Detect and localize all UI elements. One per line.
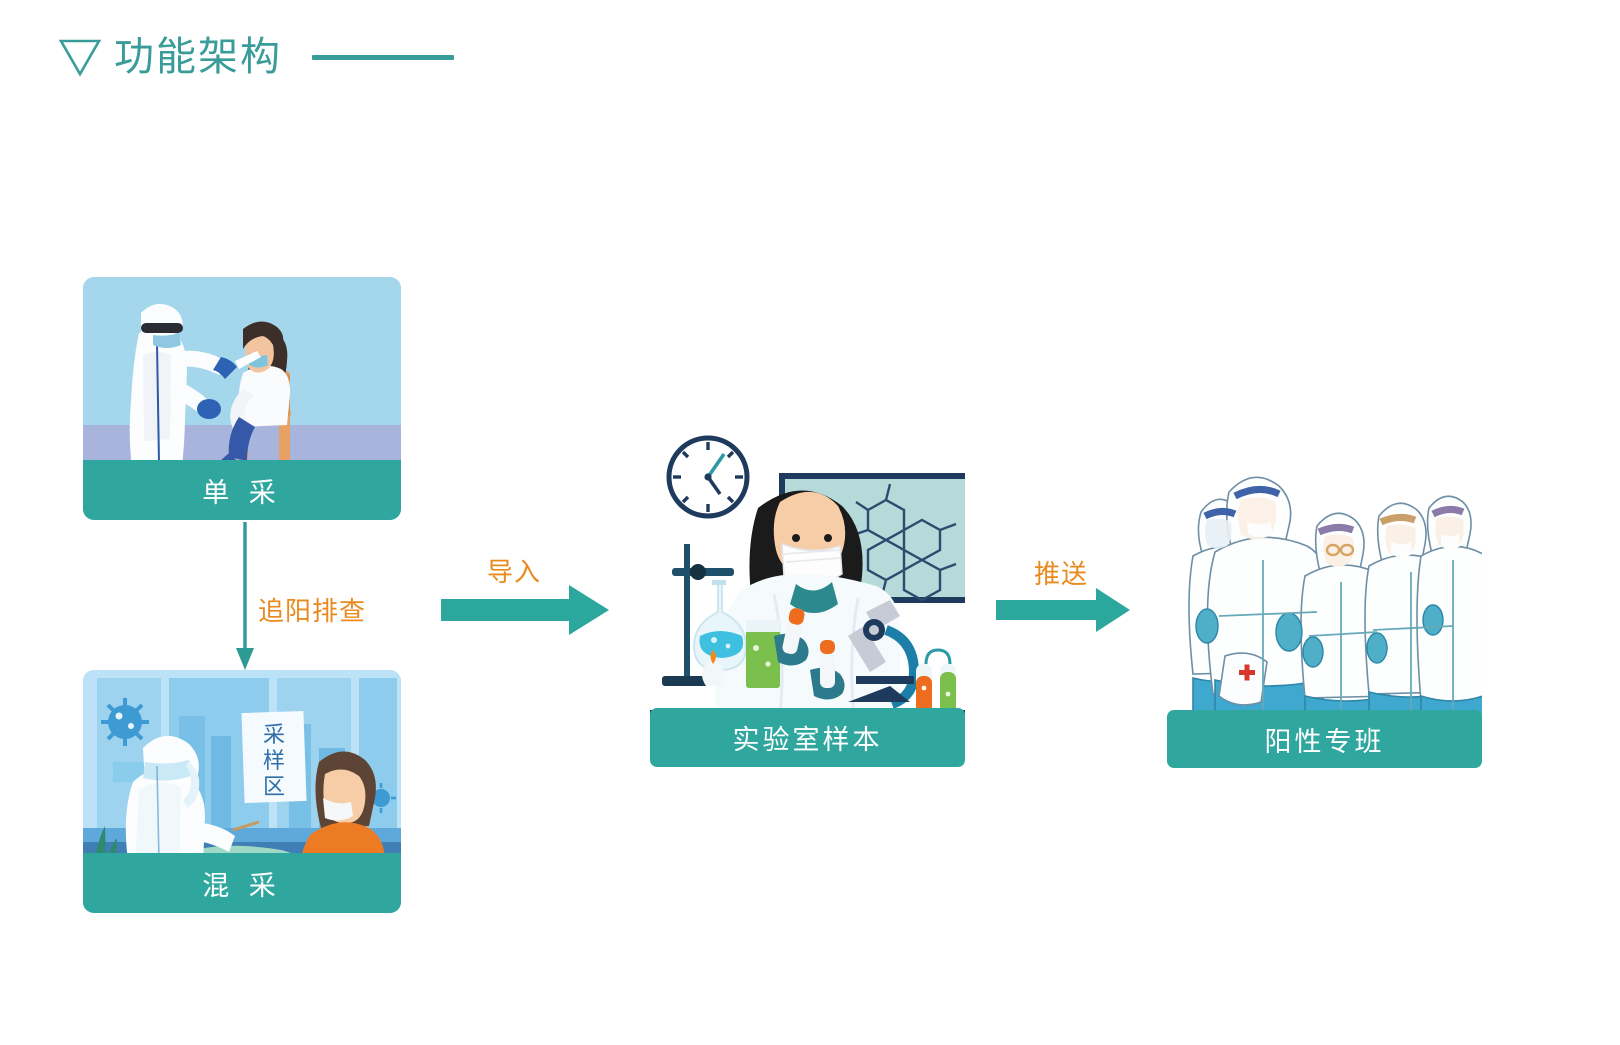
- connector-import-label: 导入: [487, 552, 541, 589]
- flow-node-single-collection-label: 单 采: [83, 460, 401, 520]
- page-header: 功能架构: [58, 36, 454, 78]
- connector-trace-check-label: 追阳排查: [258, 591, 366, 628]
- svg-text:样: 样: [263, 748, 285, 773]
- svg-text:区: 区: [263, 774, 285, 799]
- svg-text:采: 采: [263, 722, 285, 747]
- connector-push-arrow: [996, 588, 1130, 632]
- header-rule: [312, 55, 454, 60]
- triangle-down-icon: [58, 36, 102, 78]
- flow-node-positive-team-label: 阳性专班: [1167, 710, 1482, 768]
- connector-import-arrow: [441, 585, 609, 635]
- connector-trace-check-arrow: [233, 522, 257, 670]
- flow-node-single-collection[interactable]: 单 采: [83, 277, 401, 520]
- flow-node-lab-sample-label: 实验室样本: [650, 708, 965, 767]
- flow-node-mixed-collection-label: 混 采: [83, 853, 401, 913]
- flow-node-mixed-collection[interactable]: 采 样 区: [83, 670, 401, 913]
- page-title: 功能架构: [114, 37, 282, 77]
- connector-push-label: 推送: [1034, 554, 1088, 591]
